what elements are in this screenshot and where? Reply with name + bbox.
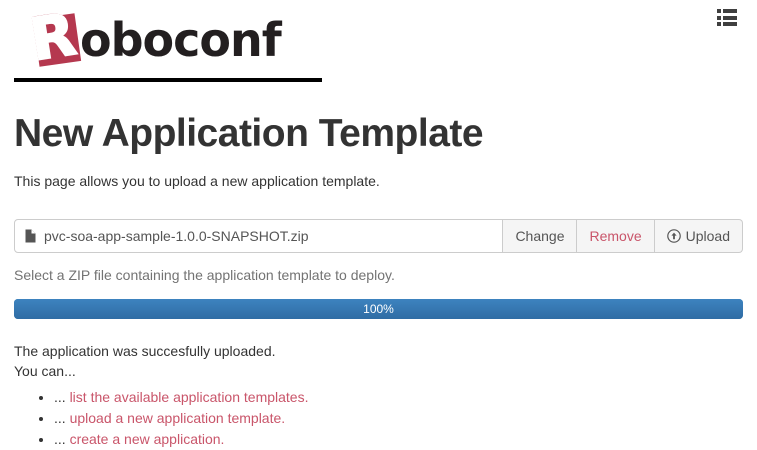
selected-file-name: pvc-soa-app-sample-1.0.0-SNAPSHOT.zip bbox=[44, 228, 309, 244]
remove-file-button[interactable]: Remove bbox=[577, 219, 654, 253]
list-item-prefix: ... bbox=[54, 431, 70, 447]
upload-helper-text: Select a ZIP file containing the applica… bbox=[14, 265, 743, 285]
menu-icon-row bbox=[717, 9, 737, 13]
menu-icon-block bbox=[717, 16, 721, 20]
link-list-application-templates[interactable]: list the available application templates… bbox=[70, 389, 309, 405]
menu-icon-row bbox=[717, 22, 737, 26]
menu-icon-block bbox=[717, 9, 721, 13]
menu-icon-line bbox=[723, 22, 737, 26]
menu-icon-row bbox=[717, 16, 737, 20]
selected-file-display[interactable]: pvc-soa-app-sample-1.0.0-SNAPSHOT.zip bbox=[14, 219, 503, 253]
upload-result-block: The application was succesfully uploaded… bbox=[14, 341, 743, 450]
menu-icon-line bbox=[723, 16, 737, 20]
page-subtitle: This page allows you to upload a new app… bbox=[14, 171, 743, 191]
file-upload-input-group: pvc-soa-app-sample-1.0.0-SNAPSHOT.zip Ch… bbox=[14, 219, 743, 253]
brand-logo[interactable]: R oboconf bbox=[22, 6, 281, 72]
link-create-new-application[interactable]: create a new application. bbox=[70, 431, 225, 447]
upload-button-label: Upload bbox=[686, 220, 730, 252]
page-title: New Application Template bbox=[14, 112, 743, 156]
upload-success-message: The application was succesfully uploaded… bbox=[14, 341, 743, 361]
upload-button[interactable]: Upload bbox=[655, 219, 743, 253]
list-item-prefix: ... bbox=[54, 410, 70, 426]
brand-wordmark: oboconf bbox=[80, 17, 281, 63]
roboconf-logo-icon: R bbox=[22, 10, 84, 68]
next-actions-list: ... list the available application templ… bbox=[14, 387, 743, 450]
menu-icon-line bbox=[723, 9, 737, 13]
page-header: R oboconf bbox=[0, 0, 757, 84]
list-item: ... create a new application. bbox=[54, 429, 743, 450]
list-item-prefix: ... bbox=[54, 389, 70, 405]
link-upload-new-application-template[interactable]: upload a new application template. bbox=[70, 410, 286, 426]
list-menu-icon[interactable] bbox=[717, 9, 737, 26]
arrow-up-circle-icon bbox=[667, 229, 681, 243]
list-item: ... upload a new application template. bbox=[54, 408, 743, 429]
upload-progress-bar: 100% bbox=[14, 299, 743, 319]
upload-next-steps-intro: You can... bbox=[14, 361, 743, 381]
header-divider bbox=[14, 78, 322, 82]
page-content: New Application Template This page allow… bbox=[0, 112, 757, 450]
menu-icon-block bbox=[717, 22, 721, 26]
change-file-button[interactable]: Change bbox=[503, 219, 577, 253]
file-document-icon bbox=[25, 229, 36, 243]
logo-letter-r: R bbox=[20, 2, 87, 72]
upload-progress-track: 100% bbox=[14, 299, 743, 319]
list-item: ... list the available application templ… bbox=[54, 387, 743, 408]
